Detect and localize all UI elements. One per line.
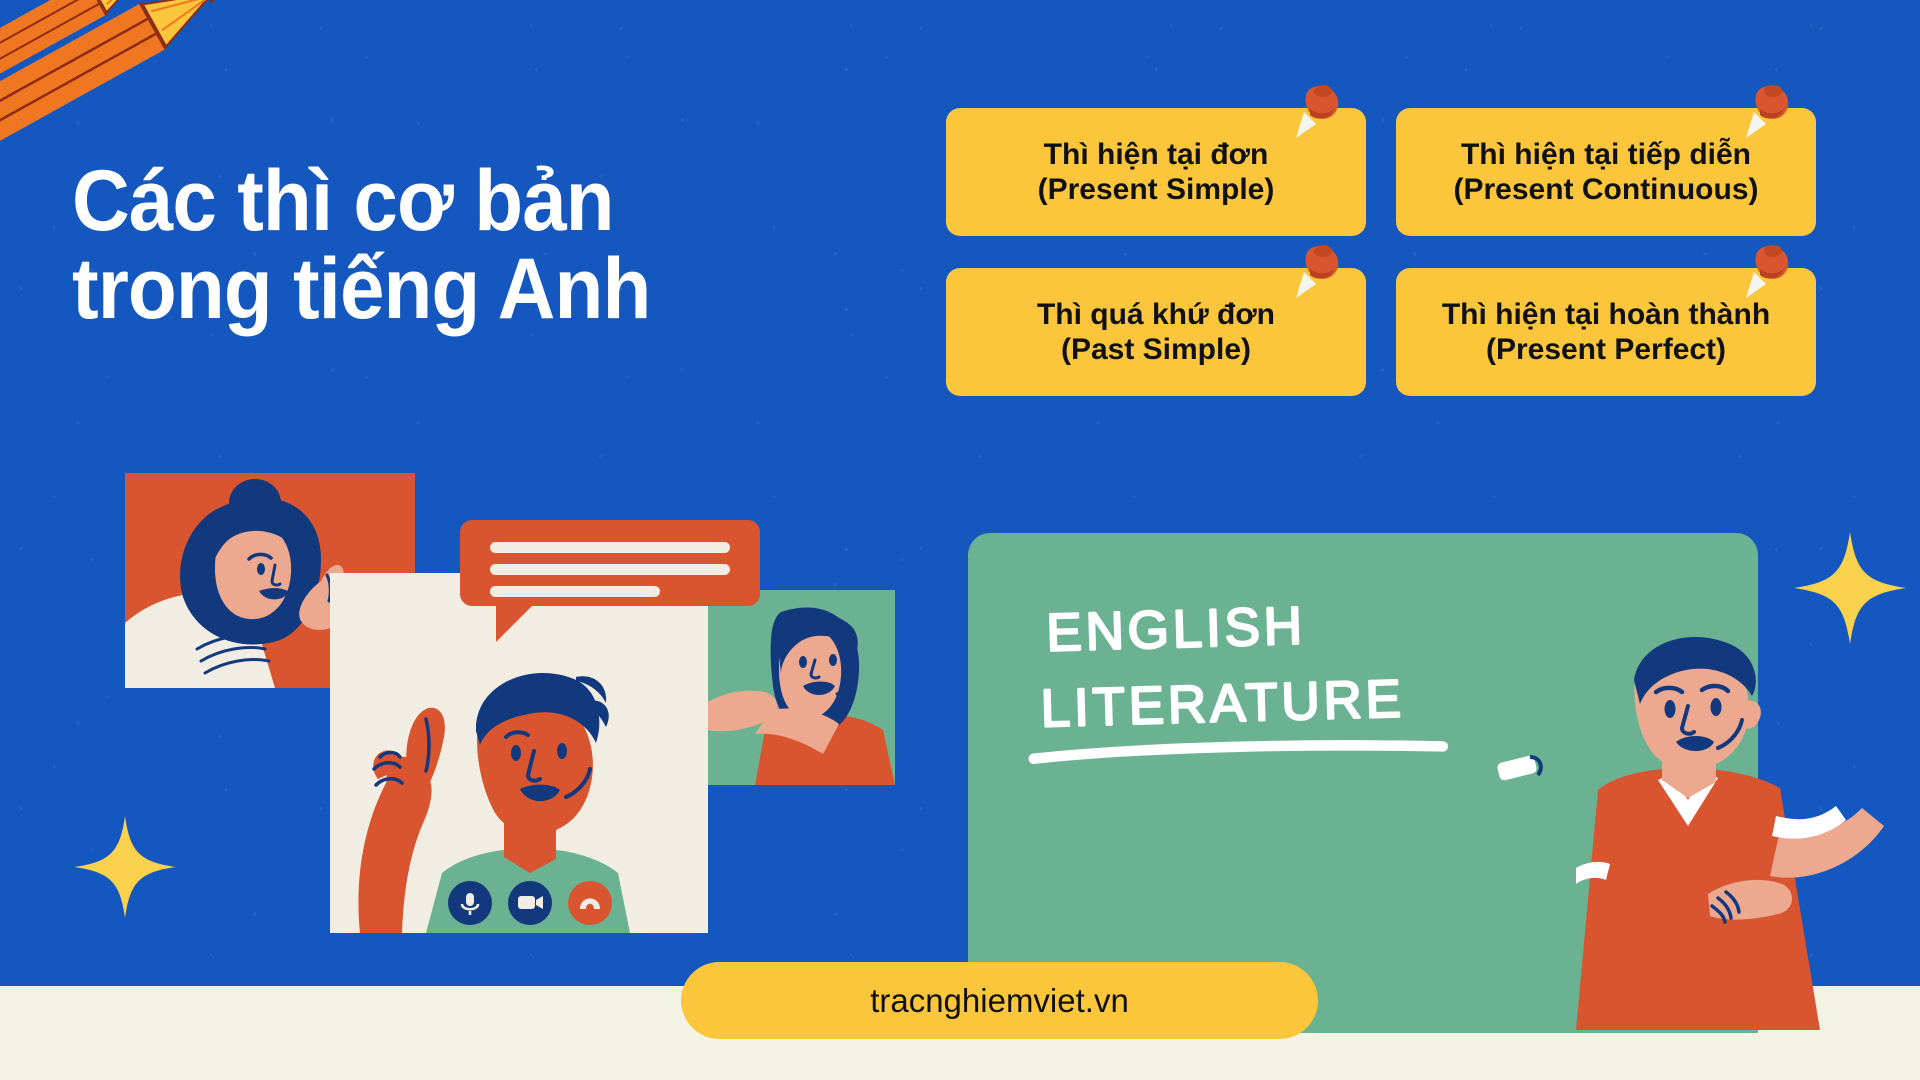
tense-card-label-en: (Present Simple) [1038,172,1275,207]
site-badge[interactable]: tracnghiemviet.vn [681,962,1318,1039]
pencil-icon [0,0,234,108]
bubble-line [490,542,730,553]
tense-card[interactable]: Thì quá khứ đơn (Past Simple) [946,268,1366,396]
tense-card-label-vi: Thì quá khứ đơn [1037,297,1275,332]
tense-card-grid: Thì hiện tại đơn (Present Simple) Thì hi… [946,108,1816,428]
tense-card-label-vi: Thì hiện tại tiếp diễn [1461,137,1751,172]
tense-card-row: Thì quá khứ đơn (Past Simple) Thì hiện t… [946,268,1816,396]
bubble-line [490,586,660,597]
pushpin-icon [1740,82,1794,140]
pushpin-icon [1290,242,1344,300]
tense-card-label-vi: Thì hiện tại hoàn thành [1442,297,1770,332]
chalkboard-text: ENGLISH LITERATURE [1020,592,1540,772]
tense-card[interactable]: Thì hiện tại tiếp diễn (Present Continuo… [1396,108,1816,236]
chalk-underline [1034,745,1443,758]
tense-card-label-en: (Present Perfect) [1486,332,1726,367]
pushpin-icon [1290,82,1344,140]
sparkle-icon [1790,528,1910,648]
chalk-line-1: ENGLISH [1046,597,1307,663]
sparkle-icon [70,812,180,922]
tense-card-label-en: (Past Simple) [1061,332,1251,367]
speech-bubble [460,520,770,660]
bubble-line [490,564,730,575]
tense-card-label-vi: Thì hiện tại đơn [1044,137,1269,172]
chalk-line-2: LITERATURE [1040,669,1406,738]
pushpin-icon [1740,242,1794,300]
site-url-label: tracnghiemviet.vn [870,982,1129,1020]
teacher-illustration [1480,630,1920,1030]
page-title: Các thì cơ bản trong tiếng Anh [72,158,835,333]
tense-card[interactable]: Thì hiện tại đơn (Present Simple) [946,108,1366,236]
infographic-canvas: Các thì cơ bản trong tiếng Anh Thì hiện … [0,0,1920,1080]
tense-card-label-en: (Present Continuous) [1454,172,1759,207]
tense-card[interactable]: Thì hiện tại hoàn thành (Present Perfect… [1396,268,1816,396]
tense-card-row: Thì hiện tại đơn (Present Simple) Thì hi… [946,108,1816,236]
